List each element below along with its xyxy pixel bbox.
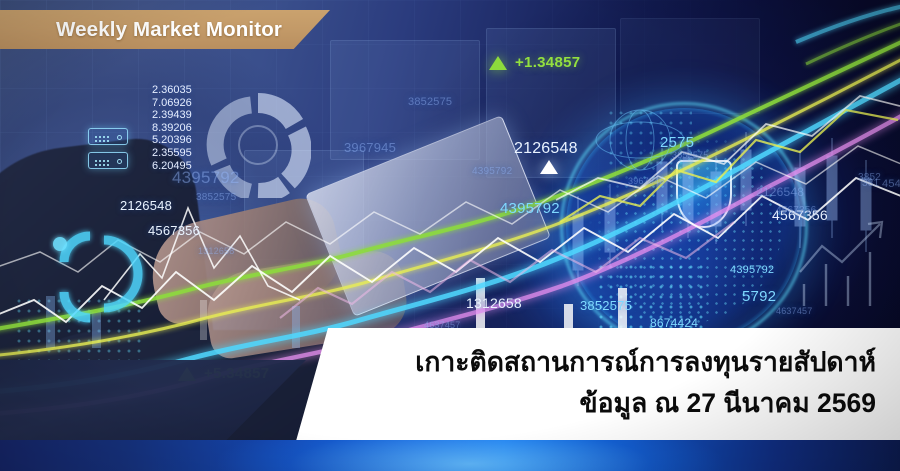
ticker-top: +1.34857 (489, 54, 580, 71)
triangle-up-icon (540, 160, 558, 174)
headline-line-1: เกาะติดสถานการณ์การลงทุนรายสัปดาห์ (415, 342, 876, 382)
ticker-mid (540, 160, 566, 174)
overlay-number: 4395792 (172, 168, 240, 188)
market-monitor-banner: 2.36035 7.06926 2.39439 8.39206 5.20396 … (0, 0, 900, 471)
overlay-number: 3852575 (580, 298, 632, 313)
banner-title: Weekly Market Monitor (56, 18, 282, 42)
overlay-number: 4567356 (776, 205, 816, 216)
data-value: 2.39439 (152, 109, 192, 122)
overlay-number: 2126548 (756, 185, 804, 199)
headline-line-2: ข้อมูล ณ 27 นีนาคม 2569 (415, 382, 876, 424)
overlay-number: 4395792 (472, 166, 512, 177)
headline-card: เกาะติดสถานการณ์การลงทุนรายสัปดาห์ ข้อมู… (296, 328, 900, 441)
bottom-blue-strip (0, 440, 900, 471)
overlay-number: 2126548 (514, 140, 578, 158)
data-value: 7.06926 (152, 97, 192, 110)
banner-ribbon: Weekly Market Monitor (0, 10, 330, 49)
server-unit (88, 128, 128, 145)
overlay-number: 4395792 (730, 264, 774, 276)
overlay-number: 1312658 (466, 295, 522, 311)
overlay-number: 4567356 (148, 223, 200, 238)
server-rack-icon (88, 128, 128, 174)
shield-icon (676, 160, 732, 228)
server-knob (117, 159, 122, 164)
overlay-number: 454 (882, 178, 900, 190)
overlay-number: 3852575 (672, 150, 708, 160)
overlay-number: 381 (862, 178, 879, 189)
server-leds (94, 135, 110, 142)
network-mesh-icon (14, 296, 144, 360)
overlay-number: 3852575 (408, 96, 452, 108)
triangle-up-icon (489, 56, 507, 70)
overlay-number: 8674424 (650, 316, 698, 330)
ticker-value: +1.34857 (515, 54, 580, 71)
overlay-number: 3852575 (196, 192, 236, 203)
data-value: 2.36035 (152, 84, 192, 97)
overlay-number: 3967945 (344, 140, 396, 155)
data-value: 5.20396 (152, 134, 192, 147)
overlay-number: 1312658 (198, 246, 234, 256)
overlay-number: 2126548 (120, 198, 172, 213)
data-value: 2.35595 (152, 147, 192, 160)
server-unit (88, 152, 128, 169)
server-knob (117, 135, 122, 140)
server-leds (94, 159, 110, 166)
data-column: 2.36035 7.06926 2.39439 8.39206 5.20396 … (152, 84, 192, 172)
data-value: 8.39206 (152, 122, 192, 135)
overlay-number: 2575 (660, 134, 694, 151)
overlay-number: 5792 (742, 288, 776, 305)
overlay-number: 4395792 (500, 200, 560, 217)
overlay-number: 3967946 (628, 176, 664, 186)
overlay-number: 4637457 (776, 306, 812, 316)
